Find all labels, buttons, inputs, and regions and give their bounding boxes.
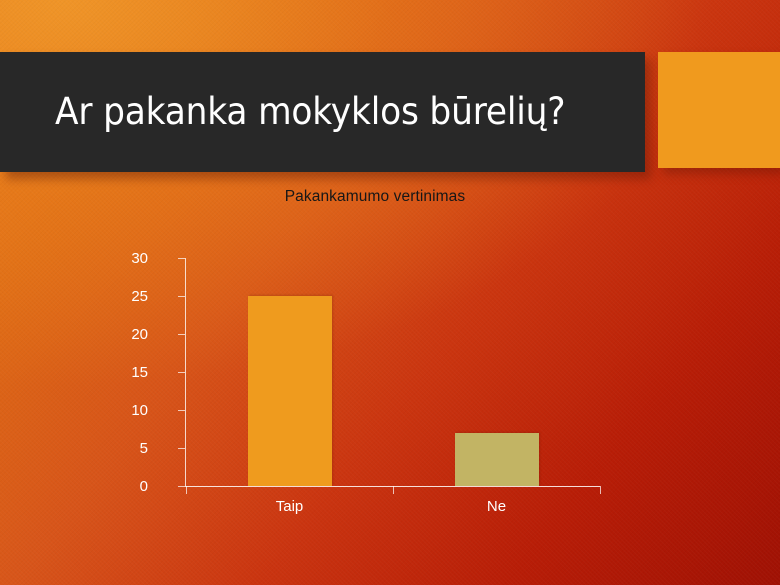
y-tick bbox=[178, 448, 185, 449]
y-tick bbox=[178, 372, 185, 373]
bar bbox=[455, 433, 539, 486]
bar-chart: Pakankamumo vertinimas 051015202530 Taip… bbox=[0, 172, 780, 585]
accent-block bbox=[658, 52, 780, 168]
y-tick-label: 30 bbox=[108, 258, 148, 259]
y-tick-label: 10 bbox=[108, 410, 148, 411]
y-tick-label: 15 bbox=[108, 372, 148, 373]
y-tick-label: 20 bbox=[108, 334, 148, 335]
y-tick bbox=[178, 486, 185, 487]
chart-title: Pakankamumo vertinimas bbox=[0, 188, 750, 206]
slide-canvas: Ar pakanka mokyklos būrelių? Pakankamumo… bbox=[0, 0, 780, 585]
y-tick-label: 5 bbox=[108, 448, 148, 449]
x-tick bbox=[393, 486, 394, 494]
y-tick bbox=[178, 334, 185, 335]
bars-group bbox=[186, 258, 600, 486]
y-tick-label: 25 bbox=[108, 296, 148, 297]
slide-title: Ar pakanka mokyklos būrelių? bbox=[55, 93, 565, 132]
x-tick bbox=[600, 486, 601, 494]
plot-area: 051015202530 TaipNe bbox=[150, 212, 610, 522]
x-category-label: Ne bbox=[437, 498, 557, 515]
title-banner: Ar pakanka mokyklos būrelių? bbox=[0, 52, 645, 172]
x-tick bbox=[186, 486, 187, 494]
bar bbox=[248, 296, 332, 486]
x-category-label: Taip bbox=[230, 498, 350, 515]
y-tick bbox=[178, 410, 185, 411]
y-tick bbox=[178, 296, 185, 297]
y-tick bbox=[178, 258, 185, 259]
y-tick-label: 0 bbox=[108, 486, 148, 487]
